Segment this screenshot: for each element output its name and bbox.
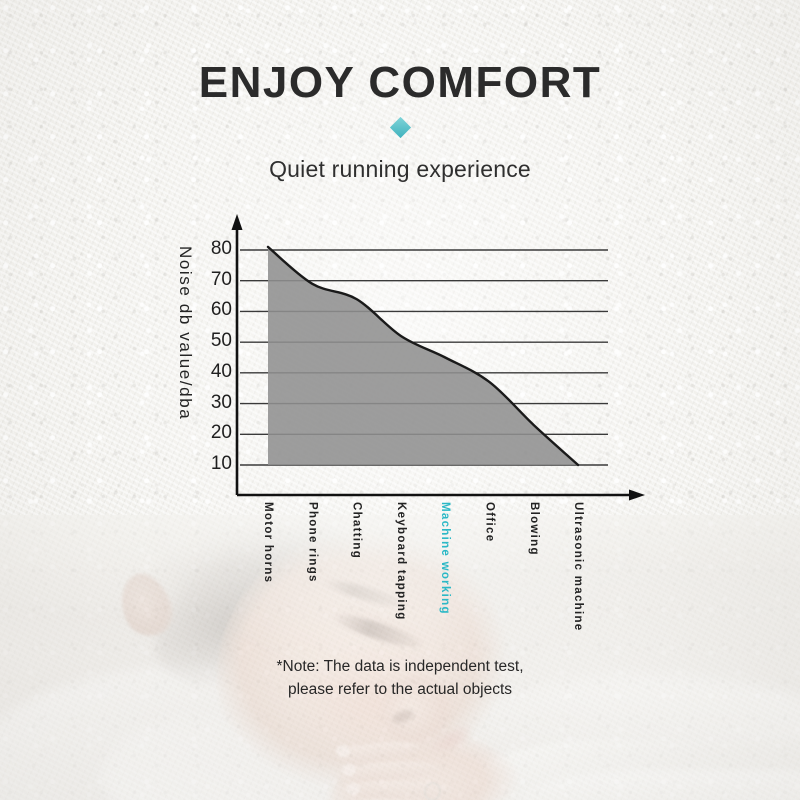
- footnote: *Note: The data is independent test, ple…: [0, 655, 800, 701]
- footnote-line-2: please refer to the actual objects: [0, 678, 800, 701]
- x-axis-label-ultrasonic-machine: Ultrasonic machine: [572, 502, 584, 632]
- x-axis-label-phone-rings: Phone rings: [306, 502, 318, 583]
- x-axis-label-office: Office: [484, 502, 496, 542]
- x-axis-label-blowing: Blowing: [528, 502, 540, 556]
- footnote-line-1: *Note: The data is independent test,: [0, 655, 800, 678]
- x-axis-label-motor-horns: Motor horns: [262, 502, 274, 583]
- x-axis-label-keyboard-tapping: Keyboard tapping: [395, 502, 407, 621]
- x-axis-label-machine-working: Machine working: [439, 502, 451, 615]
- poster-canvas: ENJOY COMFORT Quiet running experience N…: [0, 0, 800, 800]
- x-axis-label-chatting: Chatting: [351, 502, 363, 559]
